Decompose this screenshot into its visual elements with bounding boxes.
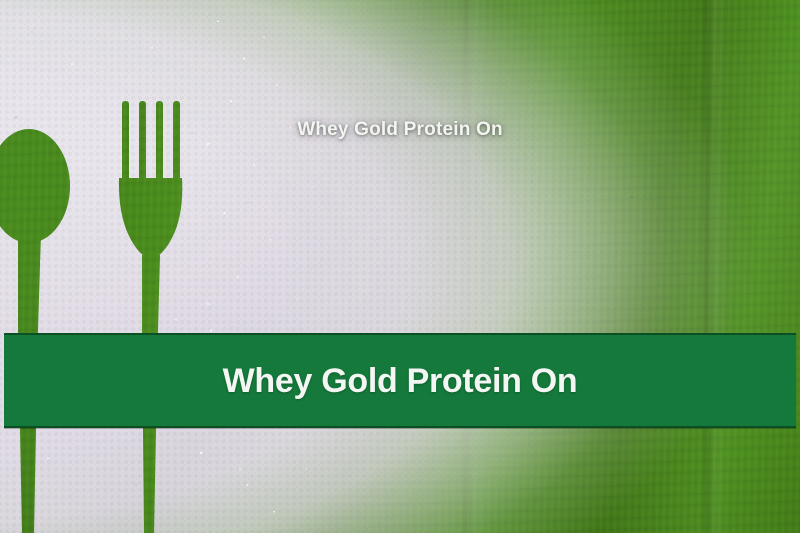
banner-title-text: Whey Gold Protein On [223,364,578,398]
title-banner: Whey Gold Protein On [4,333,796,428]
image-canvas: Whey Gold Protein On Whey Gold Protein O… [0,0,800,533]
overlay-title: Whey Gold Protein On [0,119,800,141]
powder-spray-grains [0,0,330,533]
